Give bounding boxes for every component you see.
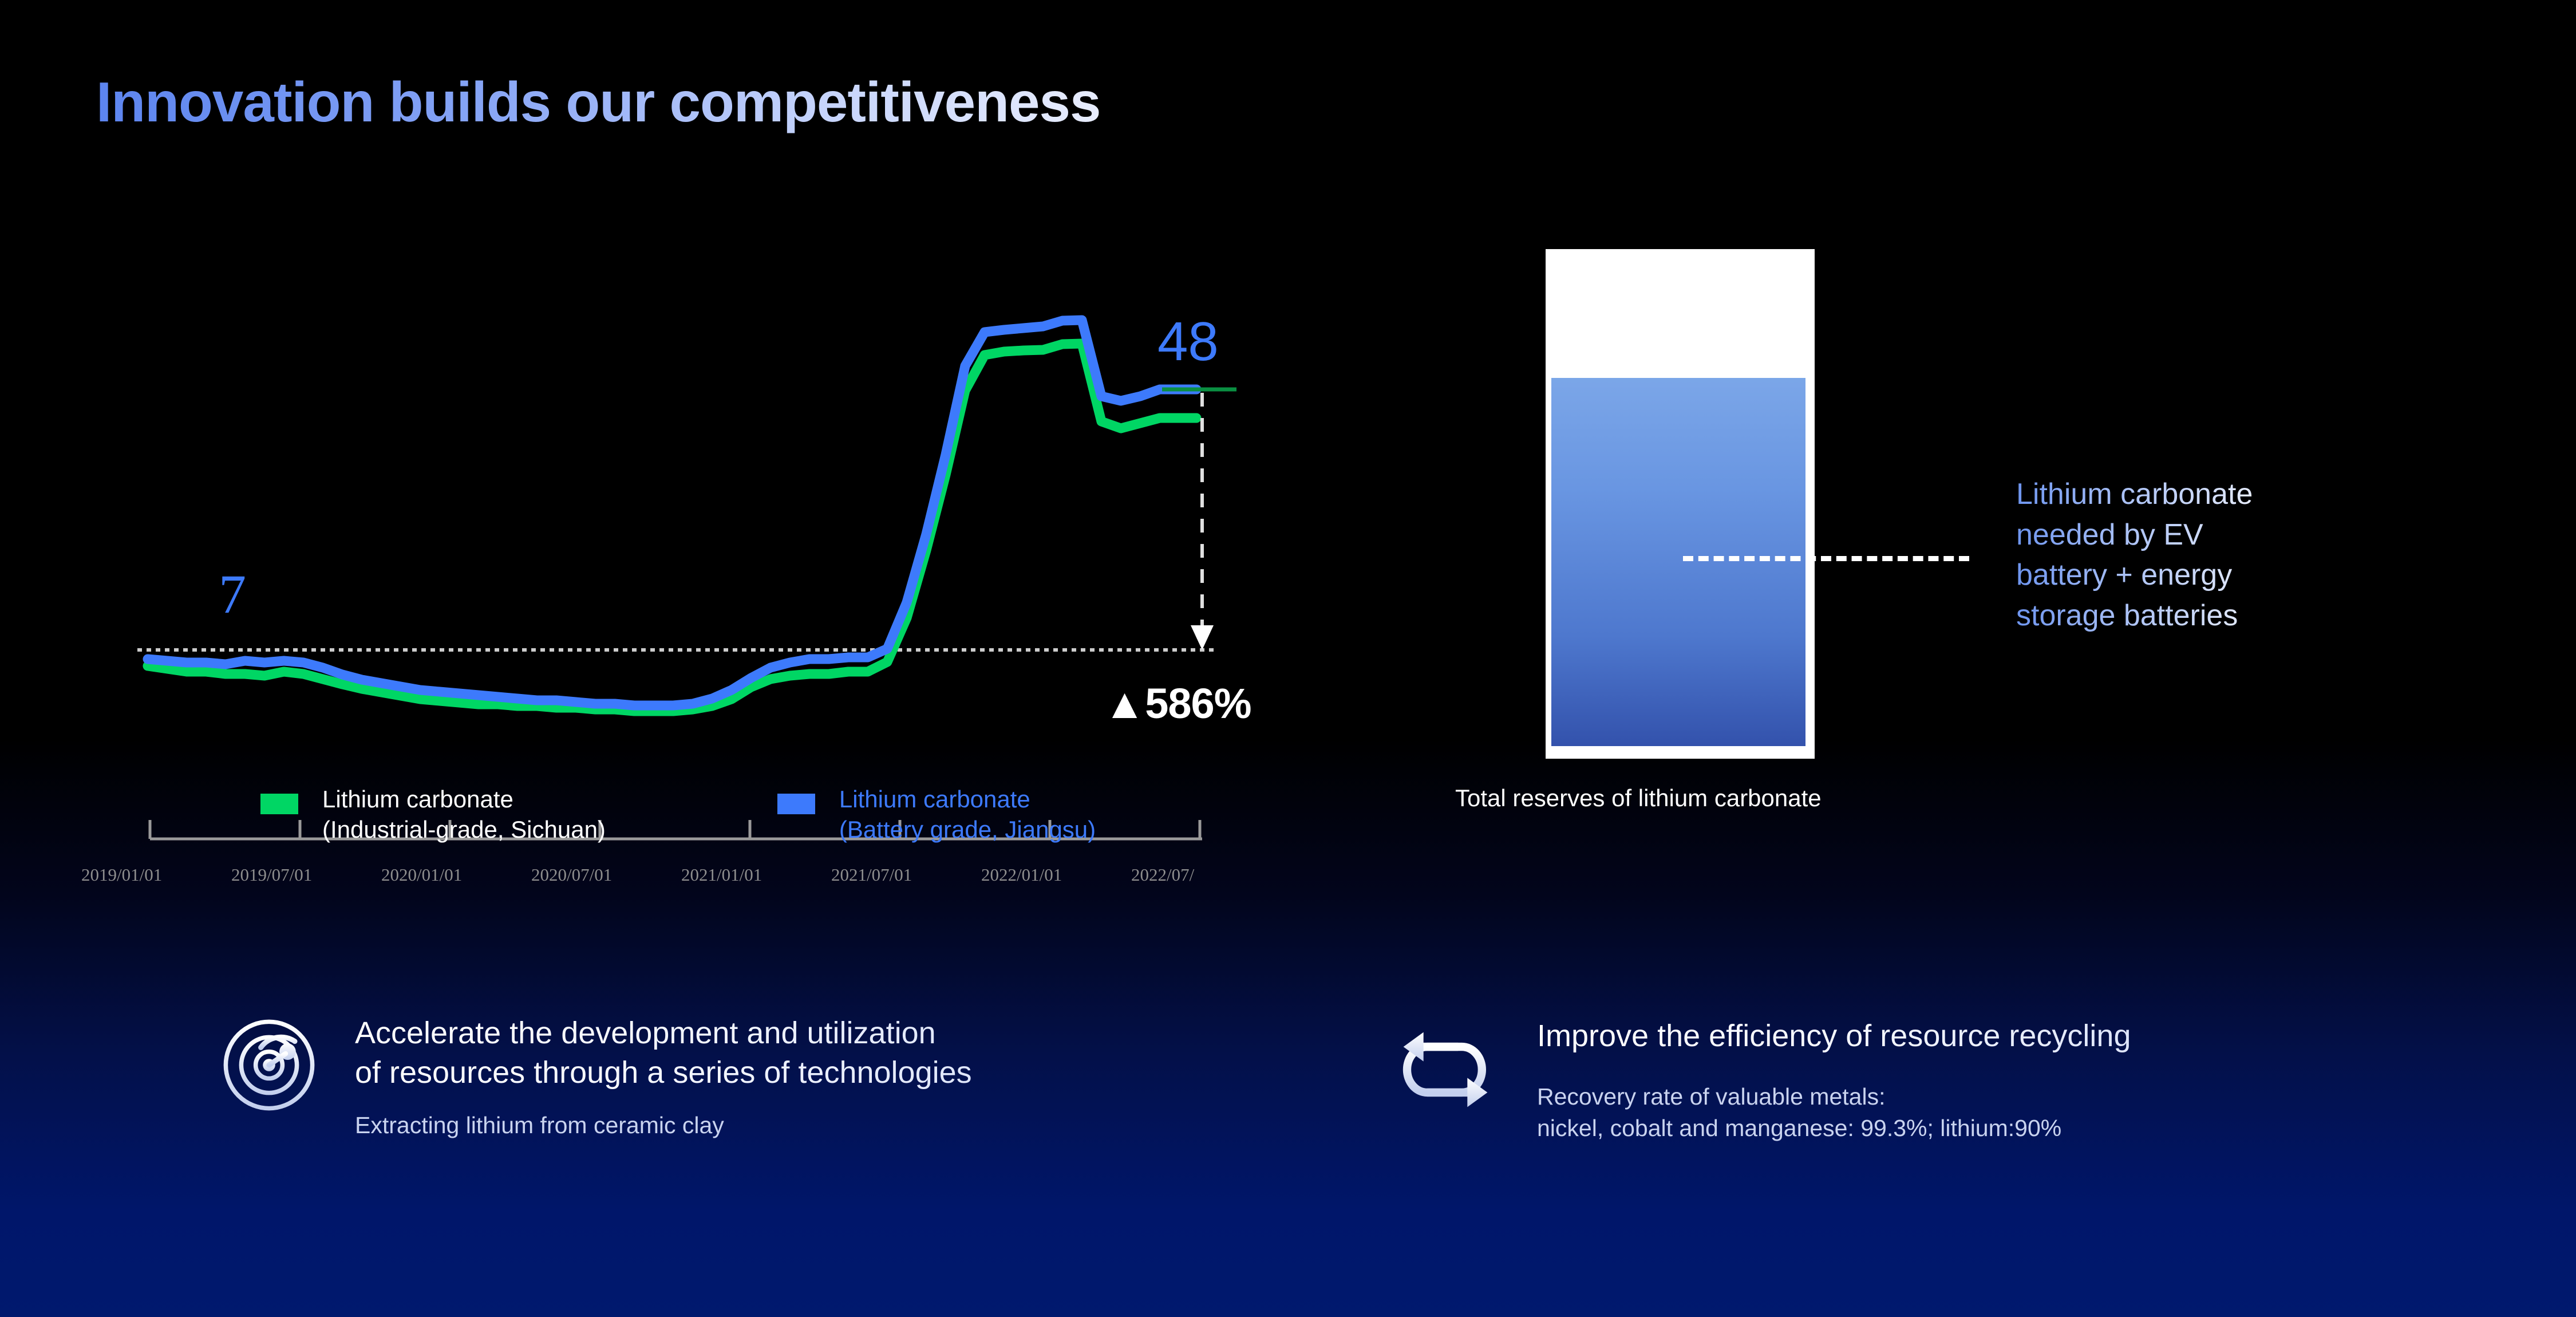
x-tick-label-2: 2020/01/01 bbox=[381, 865, 462, 885]
page-title: Innovation builds our competitiveness bbox=[96, 70, 1100, 135]
x-tick-label-6: 2022/01/01 bbox=[981, 865, 1062, 885]
feature-text-left: Accelerate the development and utilizati… bbox=[355, 1014, 972, 1142]
legend-item-battery-grade: Lithium carbonate (Battery grade, Jiangs… bbox=[777, 784, 1096, 845]
chart-end-value: 48 bbox=[1157, 310, 1219, 373]
chart-legend: Lithium carbonate (Industrial-grade, Sic… bbox=[260, 784, 1096, 845]
x-tick-label-4: 2021/01/01 bbox=[681, 865, 762, 885]
reserves-demand-note: Lithium carbonate needed by EV battery +… bbox=[2016, 474, 2253, 636]
x-tick-label-5: 2021/07/01 bbox=[831, 865, 912, 885]
legend-item-industrial-grade: Lithium carbonate (Industrial-grade, Sic… bbox=[260, 784, 606, 845]
legend-swatch-green bbox=[260, 794, 298, 814]
recycle-loop-icon bbox=[1400, 1027, 1491, 1113]
feature-title-right: Improve the efficiency of resource recyc… bbox=[1537, 1016, 2131, 1056]
feature-subtitle-left: Extracting lithium from ceramic clay bbox=[355, 1110, 972, 1141]
legend-label-industrial-grade: Lithium carbonate (Industrial-grade, Sic… bbox=[322, 784, 606, 845]
series-line-battery-grade bbox=[148, 320, 1196, 705]
slide-canvas: Innovation builds our competitiveness bbox=[0, 0, 2576, 1317]
reserves-demand-dashed-line bbox=[1683, 556, 1969, 561]
radar-target-icon bbox=[218, 1014, 321, 1117]
feature-subtitle-right: Recovery rate of valuable metals: nickel… bbox=[1537, 1081, 2131, 1145]
feature-block-resource-recycling: Improve the efficiency of resource recyc… bbox=[1400, 1016, 2131, 1145]
reserves-container-box bbox=[1546, 249, 1815, 759]
legend-label-battery-grade: Lithium carbonate (Battery grade, Jiangs… bbox=[839, 784, 1096, 845]
legend-swatch-blue bbox=[777, 794, 815, 814]
reserves-visual bbox=[1546, 249, 1815, 759]
x-tick-label-3: 2020/07/01 bbox=[531, 865, 612, 885]
price-line-chart: 7 48 ▲586% 2019/01/01 2019/07/01 2020/01… bbox=[137, 218, 1340, 865]
x-tick-label-1: 2019/07/01 bbox=[231, 865, 312, 885]
feature-title-left: Accelerate the development and utilizati… bbox=[355, 1014, 972, 1093]
x-tick-label-7: 2022/07/ bbox=[1131, 865, 1194, 885]
feature-block-resource-development: Accelerate the development and utilizati… bbox=[218, 1014, 972, 1142]
series-line-industrial-grade bbox=[148, 344, 1196, 711]
reserves-fill-level bbox=[1551, 378, 1805, 746]
feature-text-right: Improve the efficiency of resource recyc… bbox=[1537, 1016, 2131, 1145]
reserves-caption: Total reserves of lithium carbonate bbox=[1455, 784, 1822, 812]
chart-delta-badge: ▲586% bbox=[1104, 679, 1251, 728]
delta-arrow-head bbox=[1191, 625, 1214, 650]
chart-start-value: 7 bbox=[219, 562, 246, 626]
x-tick-label-0: 2019/01/01 bbox=[81, 865, 162, 885]
